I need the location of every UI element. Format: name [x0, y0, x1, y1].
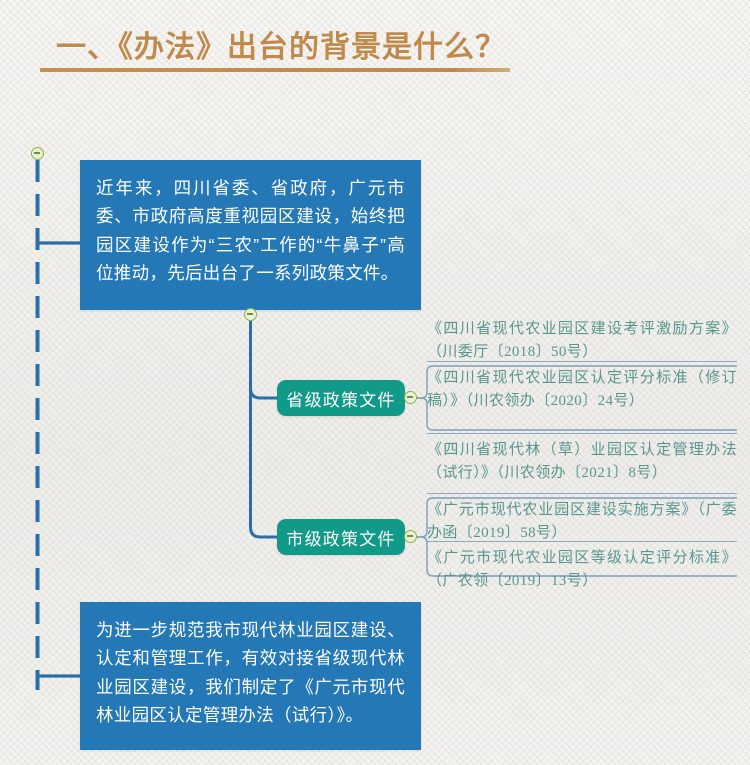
page-title: 一、《办法》出台的背景是什么？	[56, 22, 506, 66]
mindmap-canvas: 一、《办法》出台的背景是什么？ 近年来，四川省委、省政府，广元市委、市政府高度重…	[0, 0, 750, 765]
collapse-node-provincial-icon[interactable]	[404, 391, 417, 404]
document-separator	[427, 493, 737, 494]
document-item-municipal-2[interactable]: 《广元市现代农业园区等级认定评分标准》（广农领〔2019〕13号）	[427, 547, 739, 593]
header: 一、《办法》出台的背景是什么？	[0, 0, 750, 92]
document-item-municipal-1[interactable]: 《广元市现代农业园区建设实施方案》（广委办函〔2019〕58号）	[427, 499, 739, 545]
branch-label-provincial-policy[interactable]: 省级政策文件	[277, 380, 405, 416]
branch-label-municipal-policy[interactable]: 市级政策文件	[277, 519, 405, 555]
document-item-provincial-3[interactable]: 《四川省现代林（草）业园区认定管理办法（试行）》（川农领办〔2021〕8号）	[427, 439, 739, 485]
document-item-provincial-1[interactable]: 《四川省现代农业园区建设考评激励方案》（川委厅〔2018〕50号）	[427, 318, 739, 364]
collapse-node-municipal-icon[interactable]	[404, 530, 417, 543]
main-statement-node[interactable]: 近年来，四川省委、省政府，广元市委、市政府高度重视园区建设，始终把园区建设作为“…	[80, 160, 421, 310]
title-underline-divider	[40, 68, 510, 72]
document-item-provincial-2[interactable]: 《四川省现代农业园区认定评分标准（修订稿）》（川农领办〔2020〕24号）	[427, 367, 739, 413]
conclusion-node[interactable]: 为进一步规范我市现代林业园区建设、认定和管理工作，有效对接省级现代林业园区建设，…	[80, 602, 421, 750]
document-separator	[427, 433, 737, 434]
collapse-node-main-statement-icon[interactable]	[244, 308, 257, 321]
collapse-node-root-icon[interactable]	[31, 147, 44, 160]
